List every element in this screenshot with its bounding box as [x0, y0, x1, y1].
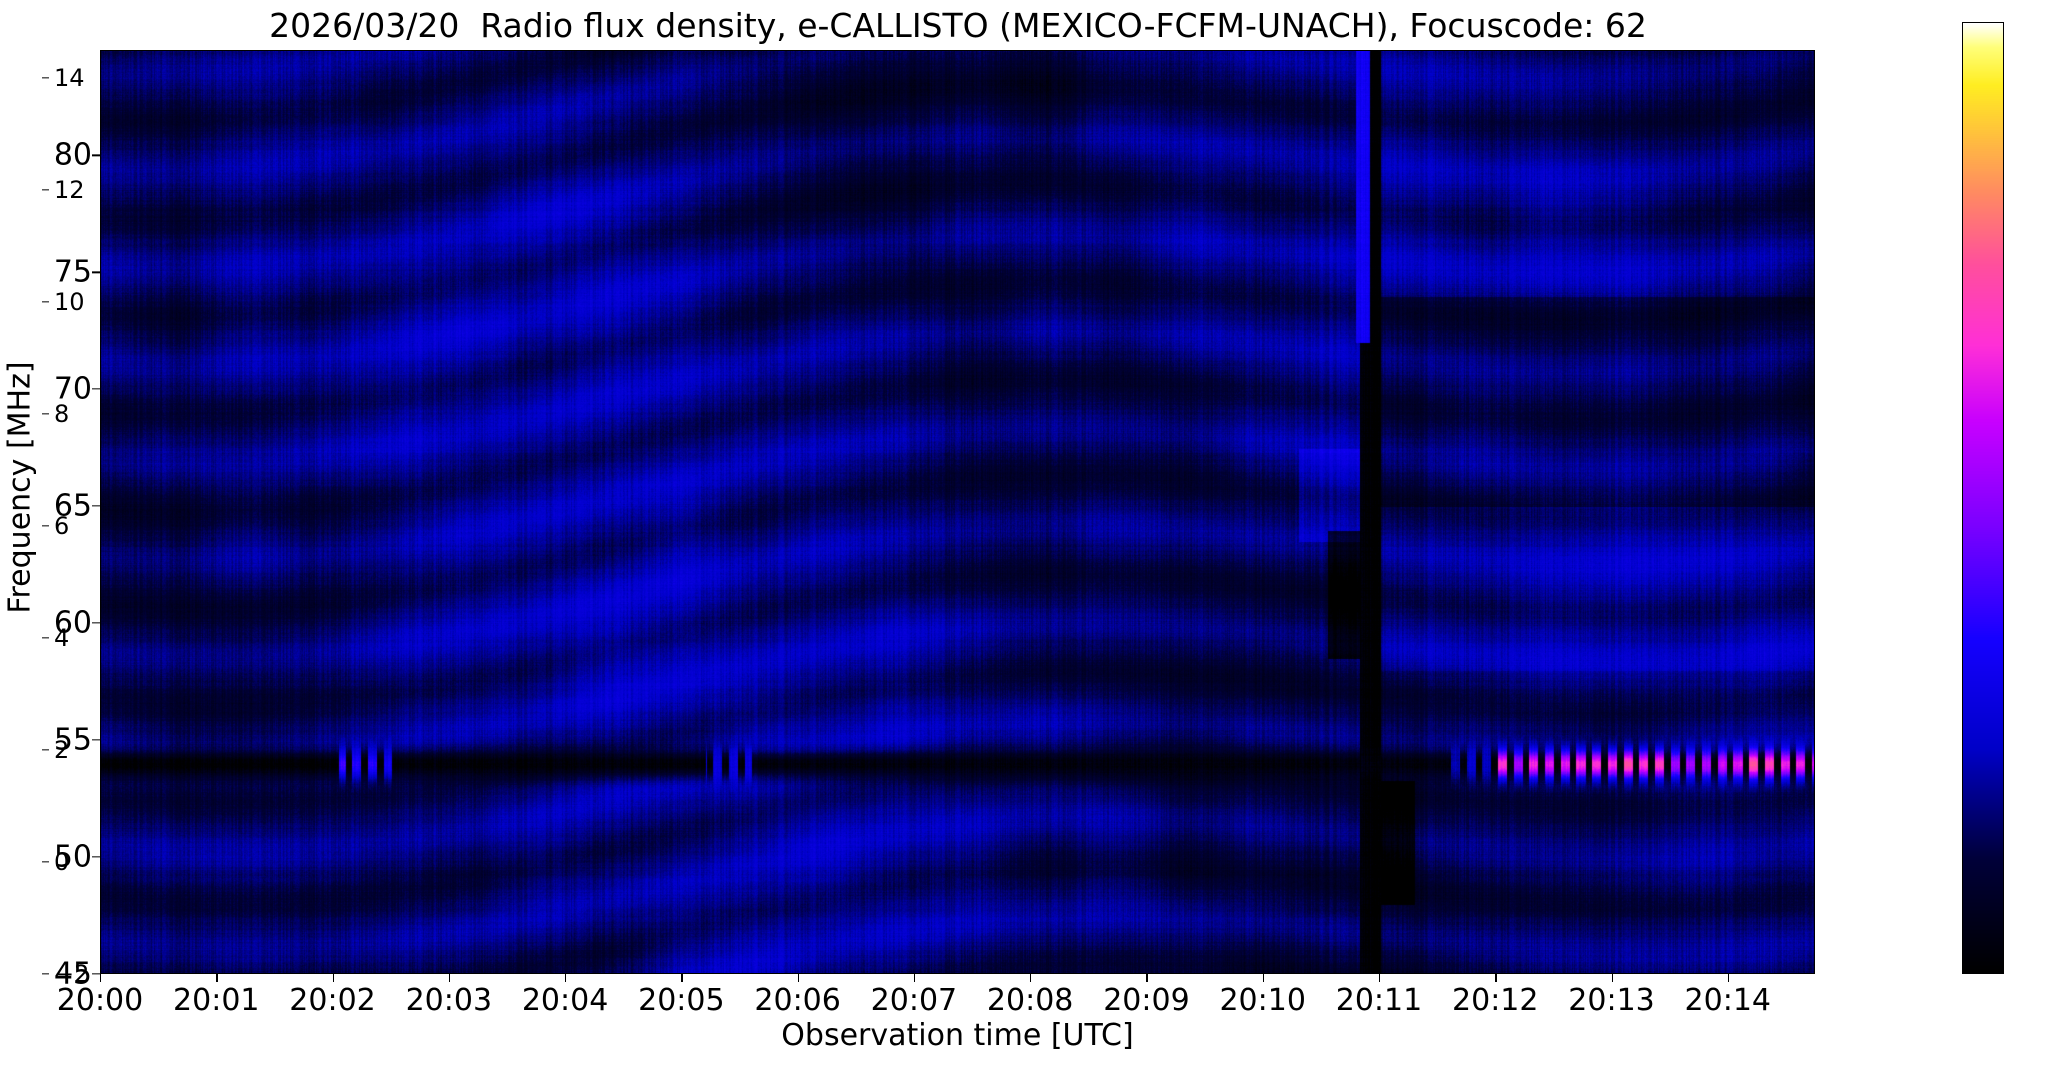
x-tick-mark — [681, 974, 682, 982]
colorbar-tick-mark — [42, 413, 49, 414]
colorbar-tick-label: 12 — [54, 176, 85, 204]
x-tick-mark — [1728, 974, 1729, 982]
x-tick-mark — [1612, 974, 1613, 982]
x-tick-mark — [798, 974, 799, 982]
x-tick-mark — [1030, 974, 1031, 982]
colorbar-tick-label: 10 — [54, 288, 85, 316]
x-tick-mark — [1379, 974, 1380, 982]
colorbar-bar — [1962, 22, 2004, 974]
colorbar-tick-label: 6 — [54, 512, 69, 540]
colorbar-tick-mark — [42, 77, 49, 78]
colorbar-tick-label: 14 — [54, 64, 85, 92]
x-tick-mark — [333, 974, 334, 982]
spectrogram-figure: 2026/03/20 Radio flux density, e-CALLIST… — [0, 0, 2047, 1067]
colorbar-tick-label: −2 — [54, 960, 89, 988]
colorbar-tick-mark — [42, 301, 49, 302]
colorbar-tick-mark — [42, 189, 49, 190]
colorbar-tick-mark — [42, 861, 49, 862]
colorbar-tick-mark — [42, 525, 49, 526]
colorbar-gradient — [1963, 23, 2003, 973]
colorbar-tick-mark — [42, 973, 49, 974]
colorbar-tick-labels: −202468101214 — [42, 22, 102, 974]
x-tick-mark — [100, 974, 101, 982]
spectrogram-plot-area — [100, 50, 1815, 974]
colorbar — [1962, 22, 2004, 974]
colorbar-tick-label: 8 — [54, 400, 69, 428]
x-tick-mark — [1263, 974, 1264, 982]
colorbar-tick-mark — [42, 637, 49, 638]
x-tick-mark — [565, 974, 566, 982]
colorbar-tick-label: 4 — [54, 624, 69, 652]
colorbar-tick-label: 2 — [54, 736, 69, 764]
x-axis-tick-marks — [100, 974, 1815, 982]
x-tick-label: 20:14 — [1628, 983, 1828, 1018]
spectrogram-image — [101, 51, 1815, 974]
x-tick-mark — [1146, 974, 1147, 982]
x-axis-tick-labels: 20:0020:0120:0220:0320:0420:0520:0620:07… — [100, 983, 1815, 1023]
colorbar-tick-label: 0 — [54, 848, 69, 876]
x-axis-label: Observation time [UTC] — [100, 1018, 1815, 1053]
x-tick-mark — [914, 974, 915, 982]
y-axis-label: Frequency [MHz] — [3, 138, 38, 838]
x-tick-mark — [216, 974, 217, 982]
x-tick-mark — [1495, 974, 1496, 982]
colorbar-tick-mark — [42, 749, 49, 750]
x-tick-mark — [449, 974, 450, 982]
page-title: 2026/03/20 Radio flux density, e-CALLIST… — [100, 6, 1816, 46]
